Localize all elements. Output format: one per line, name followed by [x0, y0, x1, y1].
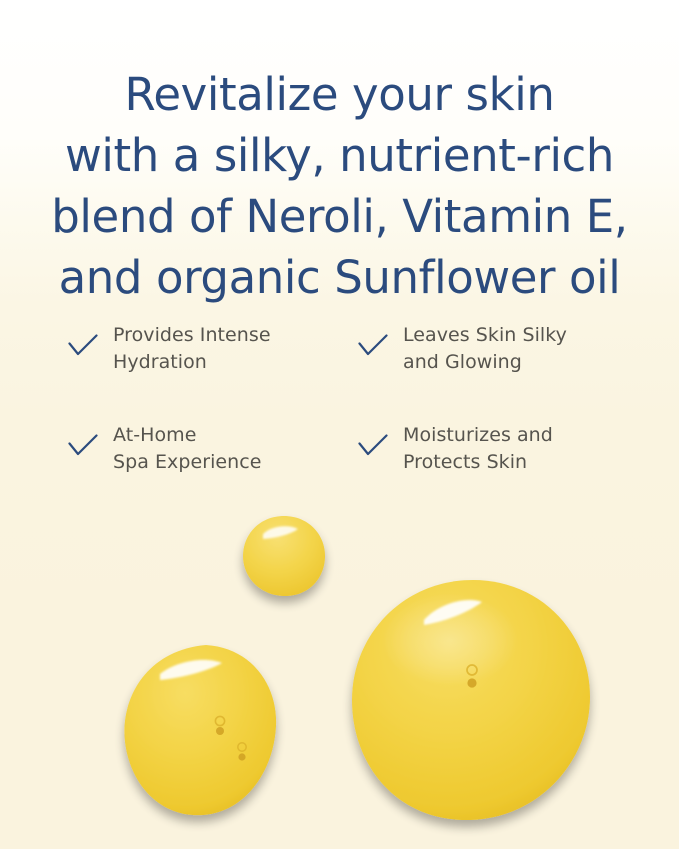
- check-icon: [68, 434, 98, 458]
- headline-line-1: Revitalize your skin: [0, 64, 679, 125]
- headline-line-3: blend of Neroli, Vitamin E,: [0, 186, 679, 247]
- benefit-item-at-home-spa-experience: At-Home Spa Experience: [68, 422, 358, 522]
- benefit-label: Provides Intense Hydration: [113, 322, 271, 376]
- headline-line-4: and organic Sunflower oil: [0, 247, 679, 308]
- headline-line-2: with a silky, nutrient-rich: [0, 125, 679, 186]
- benefit-label: Leaves Skin Silky and Glowing: [403, 322, 567, 376]
- check-icon: [68, 334, 98, 358]
- benefit-label: At-Home Spa Experience: [113, 422, 261, 476]
- large-oil-droplet: [352, 580, 590, 820]
- check-icon: [358, 434, 388, 458]
- benefit-item-provides-intense-hydration: Provides Intense Hydration: [68, 322, 358, 422]
- product-benefits-poster: Revitalize your skin with a silky, nutri…: [0, 0, 679, 849]
- page-title: Revitalize your skin with a silky, nutri…: [0, 64, 679, 308]
- check-icon: [358, 334, 388, 358]
- benefit-item-moisturizes-and-protects-skin: Moisturizes and Protects Skin: [358, 422, 628, 522]
- benefit-label: Moisturizes and Protects Skin: [403, 422, 553, 476]
- small-oil-droplet: [243, 516, 325, 596]
- benefits-list: Provides Intense Hydration Leaves Skin S…: [68, 322, 628, 522]
- medium-oil-droplet: [124, 645, 276, 815]
- benefit-item-leaves-skin-silky-and-glowing: Leaves Skin Silky and Glowing: [358, 322, 628, 422]
